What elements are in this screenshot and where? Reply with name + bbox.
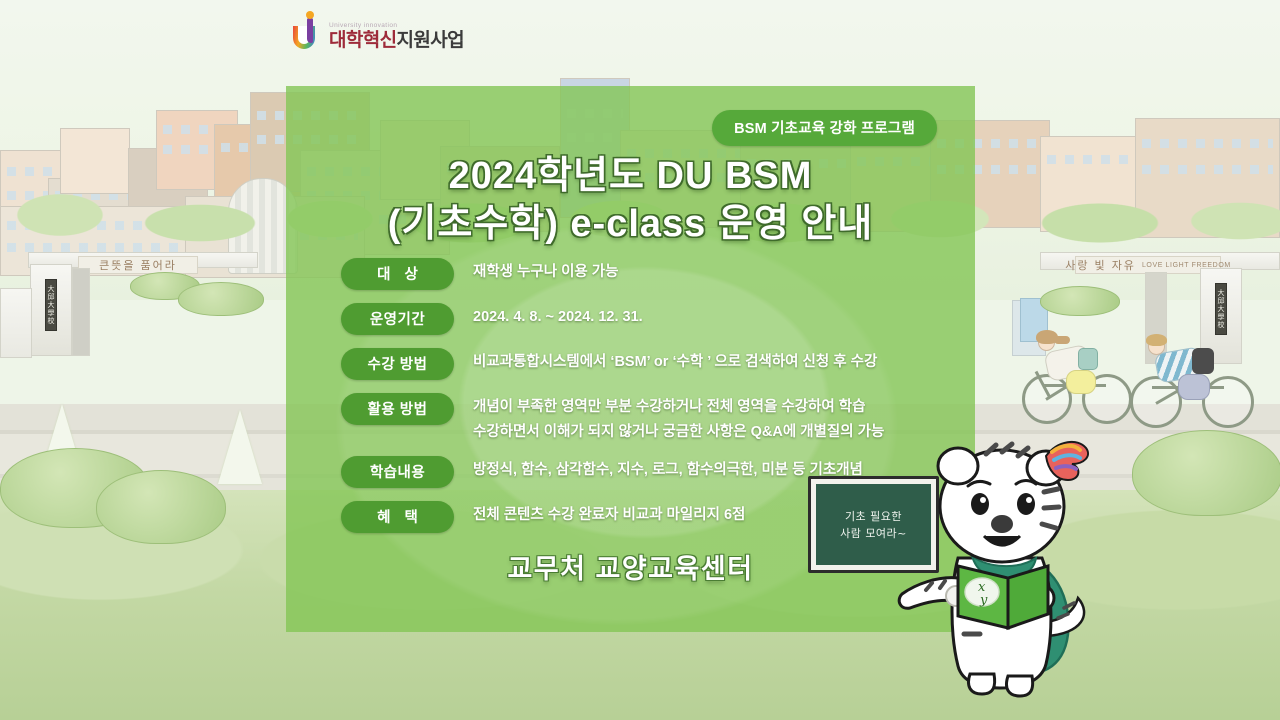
row-label-enrollment-method: 수강 방법 [341, 348, 454, 380]
title-line-2: (기초수학) e-class 운영 안내 [286, 200, 975, 248]
rider-backpack [1192, 348, 1214, 374]
row-label-usage-method: 활용 방법 [341, 393, 454, 425]
shrub [1132, 430, 1280, 516]
rider-hair [1146, 334, 1167, 346]
conifer-tree [218, 410, 262, 484]
gate-sign-left: 큰뜻을 품어라 [78, 256, 198, 274]
page-title: 2024학년도 DU BSM (기초수학) e-class 운영 안내 [286, 152, 975, 248]
row-value-period: 2024. 4. 8. ~ 2024. 12. 31. [473, 303, 643, 330]
row-label-period: 운영기간 [341, 303, 454, 335]
book-label-y: y [979, 593, 988, 608]
logo-korean-part-2: 지원사업 [397, 30, 465, 51]
gate-pillar-left-inner [72, 268, 90, 356]
logo-english-subtitle: University innovation [329, 23, 464, 30]
title-line-1: 2024학년도 DU BSM [449, 155, 813, 197]
row-value-benefit: 전체 콘텐츠 수강 완료자 비교과 마일리지 6점 [473, 501, 745, 528]
row-label-curriculum: 학습내용 [341, 456, 454, 488]
program-badge: BSM 기초교육 강화 프로그램 [712, 110, 937, 146]
row-label-benefit: 혜택 [341, 501, 454, 533]
gate-wall-left [0, 288, 32, 358]
rider-backpack [1078, 348, 1098, 370]
logo-korean-title: 대학혁신지원사업 [329, 31, 464, 50]
row-value-curriculum: 방정식, 함수, 삼각함수, 지수, 로그, 함수의극한, 미분 등 기초개념 [473, 456, 863, 483]
row-value-usage-method: 개념이 부족한 영역만 부분 수강하거나 전체 영역을 수강하여 학습 수강하면… [473, 393, 884, 445]
gate-sign-right-korean: 사랑 빛 자유 [1065, 257, 1136, 273]
table-row: 대상 재학생 누구나 이용 가능 [341, 258, 963, 290]
gate-sign-left-text: 큰뜻을 품어라 [99, 257, 177, 273]
hedge [1040, 286, 1120, 316]
cyclist-right [1130, 326, 1270, 436]
row-value-enrollment-method: 비교과통합시스템에서 ‘BSM’ or ‘수학 ’ 으로 검색하여 신청 후 수… [473, 348, 877, 375]
row-value-target: 재학생 누구나 이용 가능 [473, 258, 619, 285]
table-row: 수강 방법 비교과통합시스템에서 ‘BSM’ or ‘수학 ’ 으로 검색하여 … [341, 348, 963, 380]
logo-text: University innovation 대학혁신지원사업 [329, 23, 464, 51]
hedge [178, 282, 264, 316]
logo-mark-icon [293, 18, 323, 50]
poster-canvas: 큰뜻을 품어라 大邱大學校 사랑 빛 자유 LOVE LIGHT FREEDOM… [0, 0, 1280, 720]
rider-legs [1066, 370, 1096, 394]
gate-pillar-left: 大邱大學校 [30, 264, 72, 356]
row-label-target: 대상 [341, 258, 454, 290]
shrub [96, 470, 226, 544]
university-innovation-logo: University innovation 대학혁신지원사업 [293, 18, 464, 50]
white-tiger-mascot: x y [896, 438, 1122, 700]
gate-plate-left: 大邱大學校 [45, 279, 57, 331]
rider-ponytail [1054, 336, 1070, 344]
logo-j-icon [307, 18, 313, 43]
table-row: 운영기간 2024. 4. 8. ~ 2024. 12. 31. [341, 303, 963, 335]
rider-legs [1178, 374, 1210, 400]
table-row: 활용 방법 개념이 부족한 영역만 부분 수강하거나 전체 영역을 수강하여 학… [341, 393, 963, 445]
logo-korean-part-1: 대학혁신 [329, 30, 397, 51]
